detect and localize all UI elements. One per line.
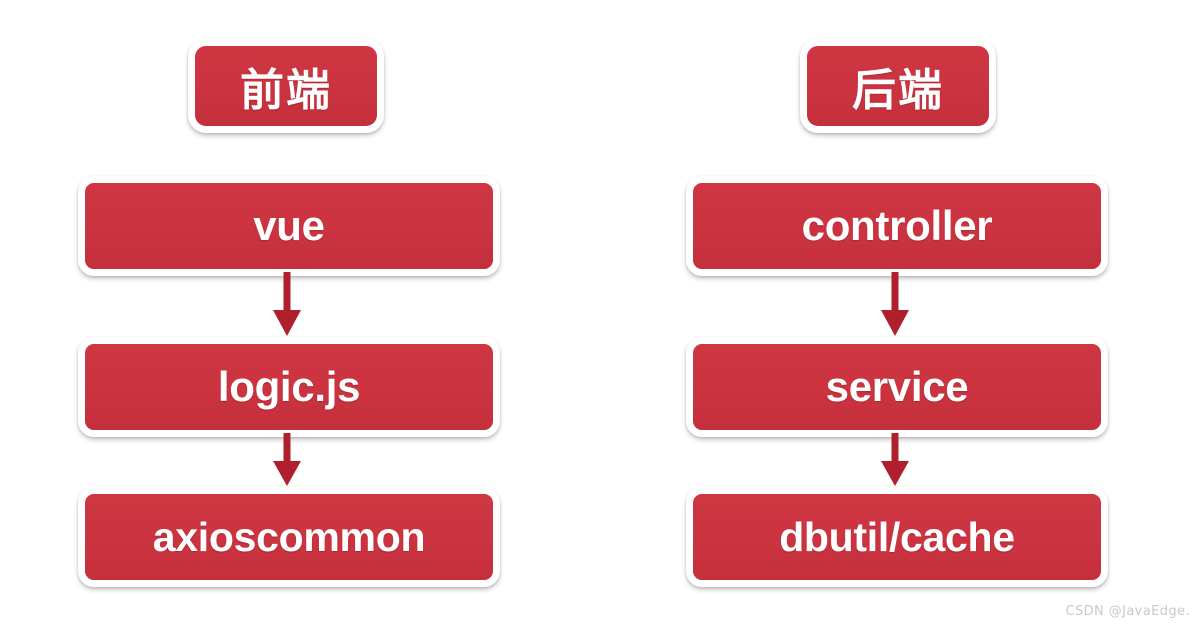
node-dbutil-cache-label: dbutil/cache <box>779 514 1015 561</box>
node-axioscommon-label: axioscommon <box>153 514 425 561</box>
node-service: service <box>686 337 1108 437</box>
arrow-service-to-dbutil-cache <box>878 433 912 488</box>
node-controller: controller <box>686 176 1108 276</box>
node-service-label: service <box>826 363 969 411</box>
column-header-frontend-label: 前端 <box>240 54 332 118</box>
arrow-logicjs-to-axioscommon <box>270 433 304 488</box>
node-axioscommon: axioscommon <box>78 487 500 587</box>
diagram-canvas: 前端 后端 vue logic.js axioscommon controlle… <box>0 0 1200 625</box>
column-header-frontend: 前端 <box>188 39 384 133</box>
arrow-controller-to-service <box>878 272 912 338</box>
node-dbutil-cache: dbutil/cache <box>686 487 1108 587</box>
node-logic-js-label: logic.js <box>218 363 360 411</box>
arrow-vue-to-logicjs <box>270 272 304 338</box>
node-vue: vue <box>78 176 500 276</box>
column-header-backend: 后端 <box>800 39 996 133</box>
node-vue-label: vue <box>253 202 324 250</box>
column-header-backend-label: 后端 <box>852 54 944 118</box>
watermark-text: CSDN @JavaEdge. <box>1065 604 1190 619</box>
node-logic-js: logic.js <box>78 337 500 437</box>
node-controller-label: controller <box>802 202 993 250</box>
